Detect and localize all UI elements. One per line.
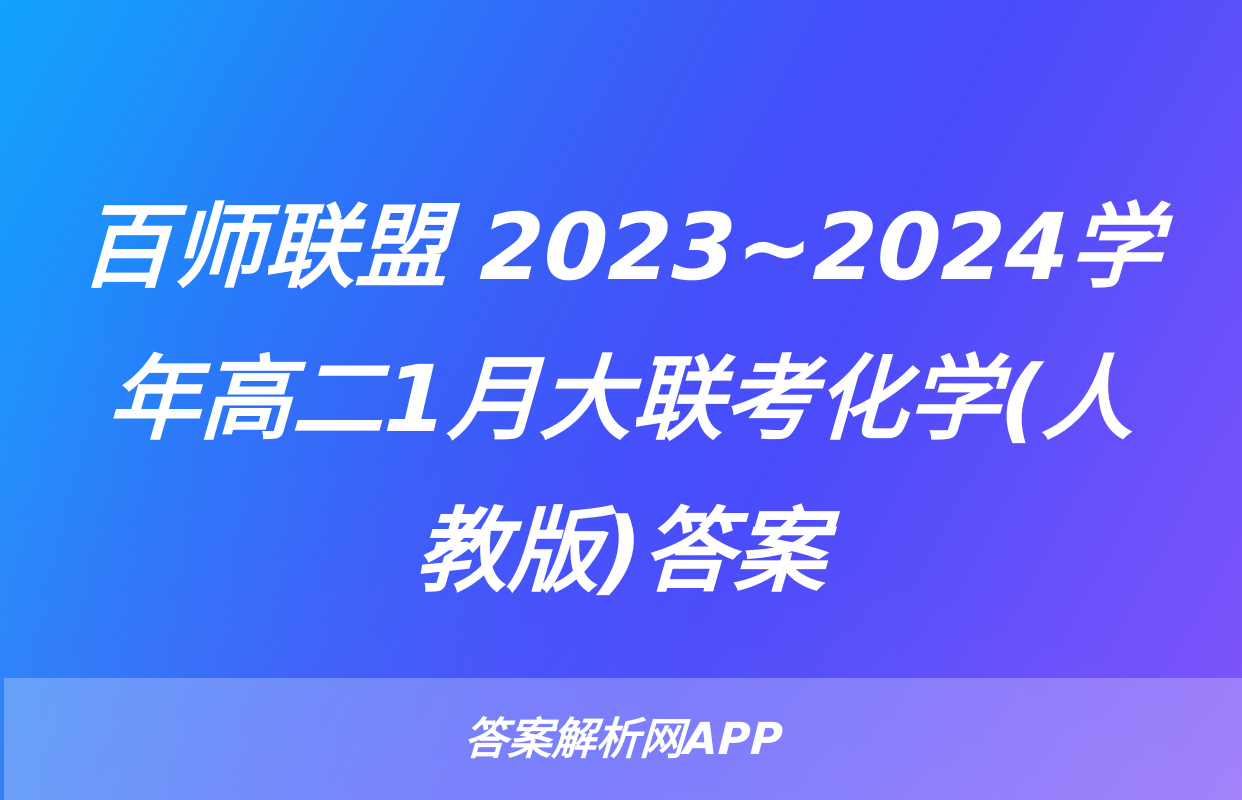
footer-band: 答案解析网APP	[4, 678, 1242, 800]
title-line-1: 百师联盟 2023~2024学	[78, 172, 1165, 324]
answer-card: 百师联盟 2023~2024学 年高二1月大联考化学(人 教版)答案 答案解析网…	[0, 0, 1242, 800]
app-watermark: 答案解析网APP	[463, 718, 784, 762]
title-line-2: 年高二1月大联考化学(人	[105, 324, 1136, 476]
title-line-3: 教版)答案	[413, 476, 828, 628]
title-block: 百师联盟 2023~2024学 年高二1月大联考化学(人 教版)答案	[0, 172, 1242, 642]
